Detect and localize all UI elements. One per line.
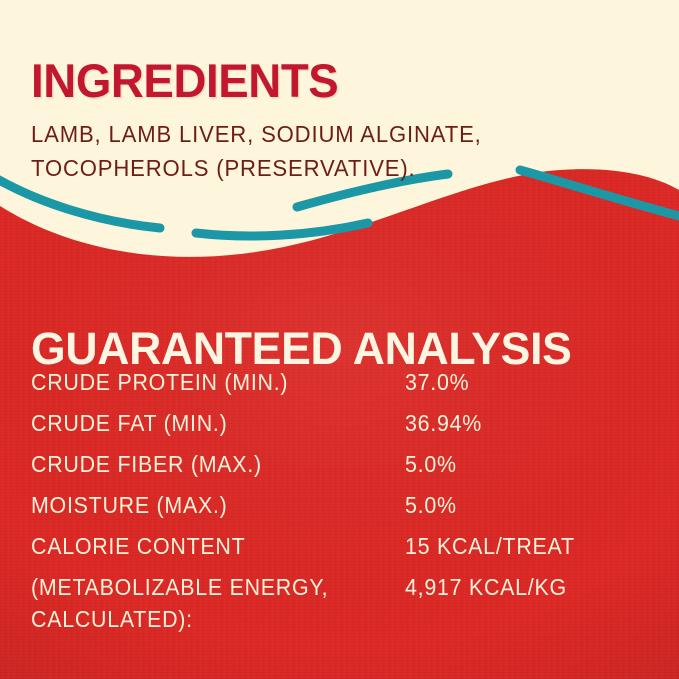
pet-treat-label: INGREDIENTS LAMB, LAMB LIVER, SODIUM ALG… <box>0 0 679 679</box>
table-row: MOISTURE (MAX.) 5.0% <box>31 489 651 530</box>
analysis-label: (METABOLIZABLE ENERGY, CALCULATED): <box>31 571 328 635</box>
ingredients-list-text: LAMB, LAMB LIVER, SODIUM ALGINATE, TOCOP… <box>31 117 595 185</box>
analysis-label: CRUDE PROTEIN (MIN.) <box>31 366 288 398</box>
analysis-label: CRUDE FAT (MIN.) <box>31 407 227 439</box>
analysis-label: CALORIE CONTENT <box>31 530 245 562</box>
table-row: CRUDE PROTEIN (MIN.) 37.0% <box>31 366 651 407</box>
analysis-label: MOISTURE (MAX.) <box>31 489 228 521</box>
table-row: CRUDE FIBER (MAX.) 5.0% <box>31 448 651 489</box>
analysis-label: CRUDE FIBER (MAX.) <box>31 448 262 480</box>
analysis-value: 5.0% <box>405 489 457 521</box>
ingredients-heading: INGREDIENTS <box>31 55 338 107</box>
table-row: CRUDE FAT (MIN.) 36.94% <box>31 407 651 448</box>
guaranteed-analysis-section: GUARANTEED ANALYSIS CRUDE PROTEIN (MIN.)… <box>0 270 679 679</box>
analysis-value: 36.94% <box>405 407 482 439</box>
guaranteed-analysis-table: CRUDE PROTEIN (MIN.) 37.0% CRUDE FAT (MI… <box>31 366 651 643</box>
analysis-value: 4,917 KCAL/KG <box>405 571 567 603</box>
table-row: CALORIE CONTENT 15 KCAL/TREAT <box>31 530 651 571</box>
analysis-value: 37.0% <box>405 366 469 398</box>
analysis-value: 5.0% <box>405 448 457 480</box>
table-row: (METABOLIZABLE ENERGY, CALCULATED): 4,91… <box>31 571 651 643</box>
analysis-value: 15 KCAL/TREAT <box>405 530 575 562</box>
ingredients-section: INGREDIENTS LAMB, LAMB LIVER, SODIUM ALG… <box>0 0 679 200</box>
